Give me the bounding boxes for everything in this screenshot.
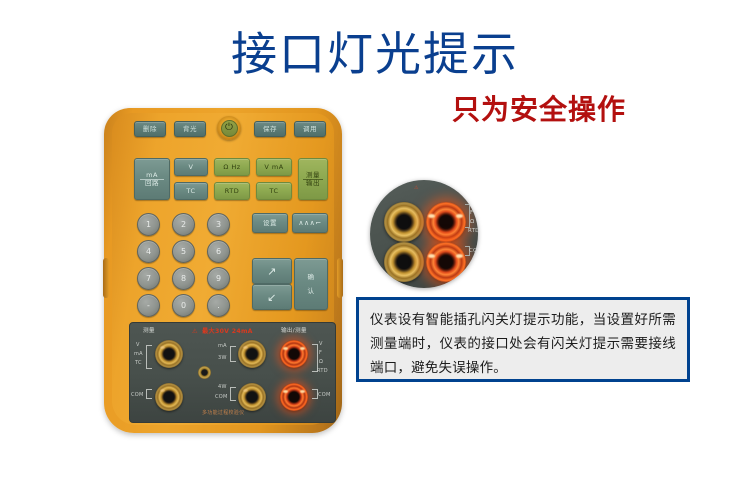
jack-output-ma[interactable]: [238, 340, 266, 368]
key-8[interactable]: 8: [172, 267, 195, 290]
terminal-closeup: ⚠ V F Ω RTD COM: [370, 180, 478, 288]
closeup-jack-lit-top[interactable]: [426, 202, 466, 242]
output-label: 输出: [306, 180, 320, 187]
panel-output-header: 输出/测量: [281, 329, 307, 335]
closeup-label-rtd: RTD: [468, 229, 478, 235]
rtd-button[interactable]: RTD: [214, 182, 250, 200]
label-com-mid: COM: [215, 395, 228, 400]
label-com-right: COM: [318, 393, 331, 398]
page-title: 接口灯光提示: [0, 26, 750, 82]
led-spark-right: [300, 347, 305, 350]
key-9[interactable]: 9: [207, 267, 230, 290]
terminal-panel: 测量 ⚠ 最大30V 24mA 输出/测量 V mA TC COM: [129, 322, 336, 423]
label-ma-left: mA: [134, 352, 143, 357]
arrow-down-button[interactable]: ↙: [252, 284, 292, 310]
panel-measure-header: 测量: [143, 329, 155, 335]
label-v-left: V: [136, 343, 140, 348]
device-model-label: 多功能过程校验仪: [202, 411, 244, 416]
closeup-jack-left-top[interactable]: [384, 202, 424, 242]
v-button[interactable]: V: [174, 158, 208, 176]
key-3[interactable]: 3: [207, 213, 230, 236]
backlight-button[interactable]: 背光: [174, 121, 206, 137]
jack-center-ground[interactable]: [198, 366, 211, 379]
key-dot[interactable]: .: [207, 294, 230, 317]
highlight: [160, 346, 165, 349]
closeup-warning-fragment: ⚠: [414, 185, 419, 191]
highlight: [160, 389, 165, 392]
tc-left-button[interactable]: TC: [174, 182, 208, 200]
bracket-mid-bottom: [230, 387, 236, 401]
bracket-mid-top: [230, 346, 236, 362]
jack-output-com-lit[interactable]: [280, 383, 308, 411]
closeup-jack-left-bottom[interactable]: [384, 242, 424, 282]
led-spark-left: [283, 390, 288, 393]
divider: [303, 179, 323, 180]
power-icon: ⏻: [221, 120, 238, 137]
warning-text: 最大30V 24mA: [202, 329, 253, 335]
label-3w-mid: 3W: [218, 356, 227, 361]
ohm-hz-button[interactable]: Ω Hz: [214, 158, 250, 176]
label-com-left: COM: [131, 393, 144, 398]
page-subtitle: 只为安全操作: [452, 93, 626, 127]
key-4[interactable]: 4: [137, 240, 160, 263]
label-f-right: F: [319, 351, 322, 356]
label-v-right: V: [319, 342, 323, 347]
led-spark-left: [428, 214, 435, 218]
jack-output-v-lit[interactable]: [280, 340, 308, 368]
closeup-label-v: V: [470, 202, 474, 208]
closeup-jack-lit-bottom[interactable]: [426, 242, 466, 282]
confirm-button[interactable]: 确 认: [294, 258, 328, 310]
label-ohm-right: Ω: [319, 360, 323, 365]
bracket-left-top: [146, 345, 152, 369]
info-callout-text: 仪表设有智能插孔闪关灯提示功能，当设置好所需测量端时，仪表的接口处会有闪关灯提示…: [359, 300, 687, 380]
arrow-up-button[interactable]: ↗: [252, 258, 292, 284]
highlight: [243, 346, 248, 349]
label-4w-mid: 4W: [218, 385, 227, 390]
ma-loop-bottom: 回路: [145, 180, 159, 187]
key-5[interactable]: 5: [172, 240, 195, 263]
power-button[interactable]: ⏻: [217, 116, 241, 140]
led-spark-left: [283, 347, 288, 350]
info-callout-box: 仪表设有智能插孔闪关灯提示功能，当设置好所需测量端时，仪表的接口处会有闪关灯提示…: [356, 297, 690, 382]
jack-measure-com[interactable]: [155, 383, 183, 411]
device-grip-left: [103, 258, 109, 298]
v-ma-button[interactable]: V mA: [256, 158, 292, 176]
confirm-bottom: 认: [308, 288, 315, 295]
label-ma-mid: mA: [218, 344, 227, 349]
calibrator-device: 删除 背光 ⏻ 保存 调用 mA 回路 V Ω Hz V mA TC RTD T…: [104, 108, 342, 433]
key-0[interactable]: 0: [172, 294, 195, 317]
led-spark-left: [428, 254, 435, 258]
tc-right-button[interactable]: TC: [256, 182, 292, 200]
closeup-label-ohm: Ω: [470, 220, 474, 226]
poster-canvas: 接口灯光提示 只为安全操作 删除 背光 ⏻ 保存 调用 mA 回路 V Ω Hz…: [0, 0, 750, 477]
key-7[interactable]: 7: [137, 267, 160, 290]
jack-measure-v[interactable]: [155, 340, 183, 368]
measure-output-button[interactable]: 测量 输出: [298, 158, 328, 200]
device-grip-right: [337, 258, 343, 298]
key-2[interactable]: 2: [172, 213, 195, 236]
led-spark-right: [456, 214, 463, 218]
closeup-label-com: COM: [469, 249, 478, 255]
key-1[interactable]: 1: [137, 213, 160, 236]
divider: [140, 179, 164, 180]
led-spark-right: [456, 254, 463, 258]
closeup-label-f: F: [470, 211, 473, 217]
setup-button[interactable]: 设置: [252, 213, 288, 233]
delete-button[interactable]: 删除: [134, 121, 166, 137]
key-minus[interactable]: -: [137, 294, 160, 317]
recall-button[interactable]: 调用: [294, 121, 326, 137]
label-tc-left: TC: [135, 361, 142, 366]
device-faceplate: 删除 背光 ⏻ 保存 调用 mA 回路 V Ω Hz V mA TC RTD T…: [112, 113, 334, 425]
label-rtd-right: RTD: [317, 369, 328, 374]
ma-loop-button[interactable]: mA 回路: [134, 158, 170, 200]
warning-icon: ⚠: [192, 329, 198, 335]
confirm-top: 确: [308, 274, 315, 281]
highlight: [243, 389, 248, 392]
save-button[interactable]: 保存: [254, 121, 286, 137]
waveform-icon-button[interactable]: ∧∧∧⌐: [292, 213, 328, 233]
led-spark-right: [300, 390, 305, 393]
jack-output-com[interactable]: [238, 383, 266, 411]
bracket-left-bottom: [146, 389, 152, 399]
key-6[interactable]: 6: [207, 240, 230, 263]
